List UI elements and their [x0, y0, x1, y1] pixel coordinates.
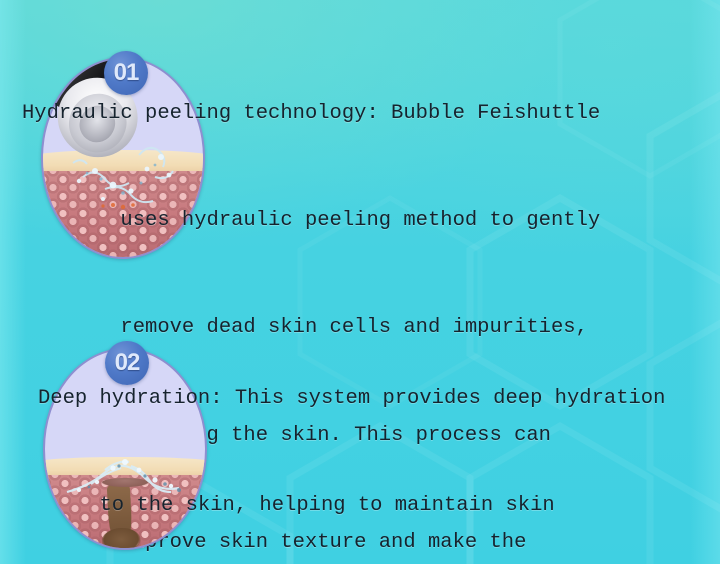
section-deep-hydration: 02 Deep hydration: This system provides … [0, 282, 720, 564]
text-line: uses hydraulic peeling method to gently [22, 203, 600, 239]
text-line: to the skin, helping to maintain skin [38, 488, 665, 524]
product-info-banner: 01 Hydraulic peeling technology: Bubble … [0, 0, 720, 564]
section-hydraulic-peeling: 01 Hydraulic peeling technology: Bubble … [0, 0, 720, 282]
paragraph-deep-hydration: Deep hydration: This system provides dee… [38, 309, 665, 564]
text-line: Deep hydration: This system provides dee… [38, 381, 665, 417]
text-line: Hydraulic peeling technology: Bubble Fei… [22, 96, 600, 132]
